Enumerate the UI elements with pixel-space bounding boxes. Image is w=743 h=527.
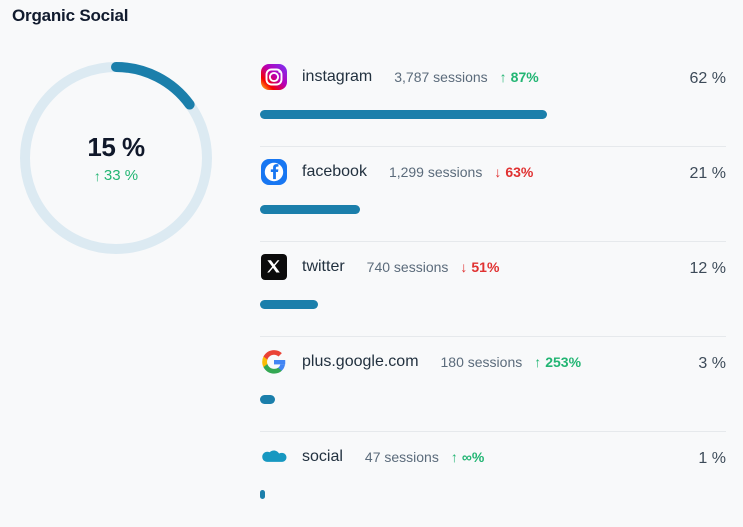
share-percent: 21 % [690, 165, 726, 183]
list-item[interactable]: social 47 sessions ↑ ∞% 1 % [260, 432, 726, 527]
share-percent: 62 % [690, 70, 726, 88]
sessions-count: 3,787 sessions [394, 69, 487, 85]
delta-value: ∞% [462, 449, 484, 465]
arrow-up-icon: ↑ [94, 169, 101, 183]
delta-change: ↑ 87% [500, 69, 539, 85]
delta-value: 87% [511, 69, 539, 85]
share-percent: 3 % [698, 355, 726, 373]
row-header: facebook 1,299 sessions ↓ 63% [260, 147, 726, 191]
share-percent: 12 % [690, 260, 726, 278]
cloud-icon [260, 443, 288, 471]
source-name: facebook [302, 163, 367, 181]
share-percent: 1 % [698, 450, 726, 468]
sessions-count: 180 sessions [441, 354, 523, 370]
arrow-down-icon: ↓ [460, 259, 467, 275]
list-item[interactable]: facebook 1,299 sessions ↓ 63% 21 % [260, 147, 726, 242]
list-item[interactable]: plus.google.com 180 sessions ↑ 253% 3 % [260, 337, 726, 432]
delta-change: ↓ 63% [494, 164, 533, 180]
donut-center-labels: 15 % ↑ 33 % [16, 58, 216, 258]
twitter-x-icon [260, 253, 288, 281]
delta-change: ↑ 253% [534, 354, 581, 370]
arrow-up-icon: ↑ [500, 69, 507, 85]
arrow-down-icon: ↓ [494, 164, 501, 180]
list-item[interactable]: instagram 3,787 sessions ↑ 87% 62 % [260, 52, 726, 147]
share-bar-fill [260, 490, 265, 499]
arrow-up-icon: ↑ [534, 354, 541, 370]
google-icon [260, 348, 288, 376]
row-header: social 47 sessions ↑ ∞% [260, 432, 726, 476]
source-name: instagram [302, 68, 372, 86]
row-header: twitter 740 sessions ↓ 51% [260, 242, 726, 286]
share-bar-track [260, 395, 547, 404]
share-bar-track [260, 300, 547, 309]
share-bar-fill [260, 205, 360, 214]
donut-delta-label: 33 % [104, 167, 138, 184]
row-header: plus.google.com 180 sessions ↑ 253% [260, 337, 726, 381]
delta-change: ↑ ∞% [451, 449, 484, 465]
facebook-icon [260, 158, 288, 186]
delta-value: 63% [505, 164, 533, 180]
row-header: instagram 3,787 sessions ↑ 87% [260, 52, 726, 96]
delta-value: 51% [471, 259, 499, 275]
social-source-list: instagram 3,787 sessions ↑ 87% 62 % face… [260, 52, 726, 527]
share-bar-fill [260, 395, 275, 404]
list-item[interactable]: twitter 740 sessions ↓ 51% 12 % [260, 242, 726, 337]
delta-value: 253% [545, 354, 581, 370]
donut-value: 15 % [87, 132, 144, 163]
source-name: plus.google.com [302, 353, 419, 371]
sessions-count: 47 sessions [365, 449, 439, 465]
share-bar-track [260, 490, 547, 499]
sessions-count: 740 sessions [367, 259, 449, 275]
sessions-count: 1,299 sessions [389, 164, 482, 180]
share-bar-track [260, 205, 547, 214]
source-name: social [302, 448, 343, 466]
share-bar-track [260, 110, 547, 119]
organic-social-share-donut: 15 % ↑ 33 % [16, 58, 216, 258]
delta-change: ↓ 51% [460, 259, 499, 275]
donut-delta: ↑ 33 % [94, 167, 138, 184]
arrow-up-icon: ↑ [451, 449, 458, 465]
page-title: Organic Social [12, 6, 128, 26]
instagram-icon [260, 63, 288, 91]
source-name: twitter [302, 258, 345, 276]
share-bar-fill [260, 110, 547, 119]
share-bar-fill [260, 300, 318, 309]
